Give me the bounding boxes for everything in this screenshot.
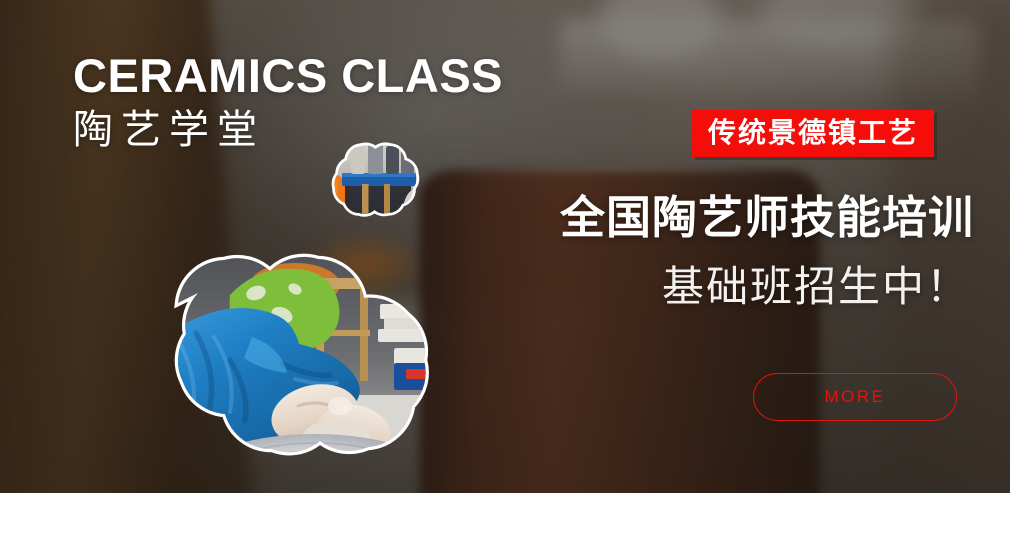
page-title: CERAMICS CLASS	[73, 52, 533, 101]
hero-cloud-photo[interactable]	[80, 230, 530, 520]
ceramics-class-banner: CERAMICS CLASS 陶艺学堂	[0, 0, 1010, 538]
status-badge: 传统景德镇工艺	[692, 110, 934, 157]
promo-headline: 全国陶艺师技能培训	[560, 193, 970, 243]
thumbnail-cloud-photo[interactable]	[316, 136, 434, 238]
more-button[interactable]: MORE	[753, 373, 957, 421]
promo-subheadline: 基础班招生中！	[560, 264, 970, 310]
title-block: CERAMICS CLASS 陶艺学堂	[73, 52, 533, 153]
page-subtitle: 陶艺学堂	[73, 107, 533, 153]
promo-column: 传统景德镇工艺 全国陶艺师技能培训 基础班招生中！ MORE	[560, 110, 970, 310]
